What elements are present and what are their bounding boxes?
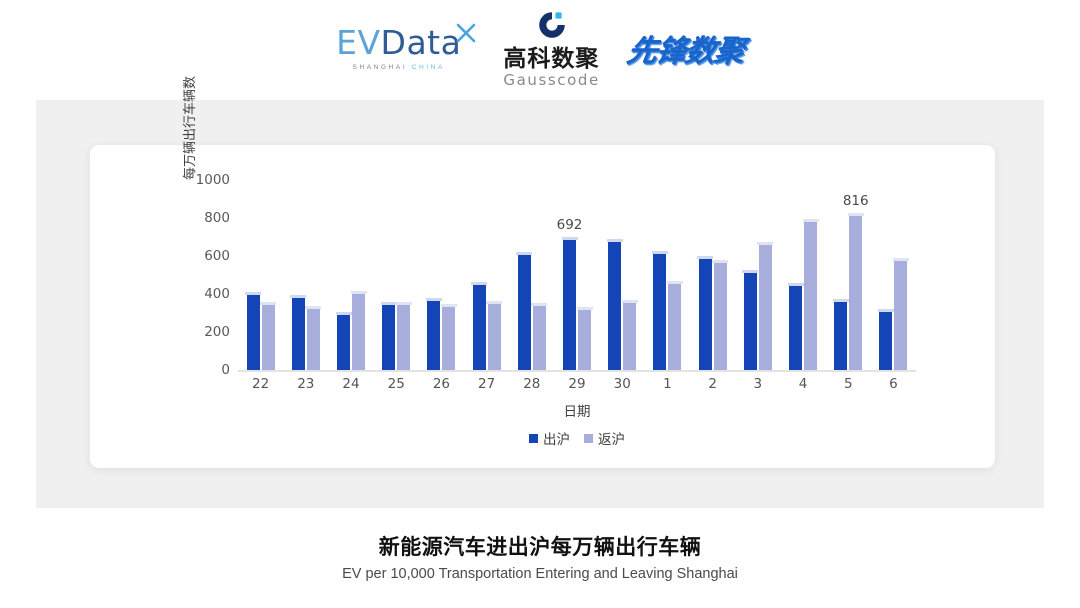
bar-chuhu[interactable] xyxy=(789,285,802,370)
x-axis-line xyxy=(238,370,916,372)
bar-group xyxy=(690,180,735,370)
bar-group: 816 xyxy=(826,180,871,370)
x-tick-label: 23 xyxy=(283,376,328,398)
bar-chuhu[interactable] xyxy=(879,311,892,370)
x-tick-label: 2 xyxy=(690,376,735,398)
x-tick-label: 24 xyxy=(328,376,373,398)
bar-chuhu[interactable] xyxy=(427,300,440,370)
x-tick-label: 30 xyxy=(600,376,645,398)
evdata-tagline-shanghai: SHANGHAI xyxy=(353,64,408,71)
bar-cap xyxy=(622,300,638,303)
bar-cap xyxy=(441,304,457,307)
logo-evdata: EVData SHANGHAI CHINA xyxy=(336,26,475,71)
y-tick-label: 600 xyxy=(204,248,230,264)
bar-group xyxy=(419,180,464,370)
legend-swatch xyxy=(529,434,538,443)
bar-cap xyxy=(848,213,864,216)
bar-chuhu[interactable] xyxy=(608,241,621,370)
bar-group xyxy=(645,180,690,370)
y-tick-label: 1000 xyxy=(196,172,230,188)
x-tick-label: 4 xyxy=(780,376,825,398)
legend-item[interactable]: 出沪 xyxy=(529,428,570,448)
bar-chuhu[interactable] xyxy=(518,254,531,370)
bar-chuhu[interactable] xyxy=(653,253,666,370)
bar-group: 692 xyxy=(554,180,599,370)
bar-cap xyxy=(577,307,593,310)
bar-cap xyxy=(803,219,819,222)
bar-group xyxy=(464,180,509,370)
y-tick-label: 0 xyxy=(221,362,230,378)
bar-cap xyxy=(562,237,578,240)
x-cross-icon xyxy=(455,22,477,44)
bar-cap xyxy=(486,301,502,304)
bar-group xyxy=(735,180,780,370)
bar-cap xyxy=(471,282,487,285)
bar-cap xyxy=(305,306,321,309)
bar-chuhu[interactable] xyxy=(834,301,847,370)
bar-chuhu[interactable] xyxy=(473,284,486,370)
caption-english: EV per 10,000 Transportation Entering an… xyxy=(0,566,1080,582)
legend-label: 返沪 xyxy=(598,428,625,448)
evdata-wordmark: EVData xyxy=(336,26,461,59)
bar-chuhu[interactable] xyxy=(292,297,305,370)
chart-legend: 出沪返沪 xyxy=(238,428,916,448)
x-axis-ticks: 222324252627282930123456 xyxy=(238,376,916,398)
bar-group xyxy=(780,180,825,370)
bar-cap xyxy=(893,258,909,261)
bar-value-label: 692 xyxy=(557,217,583,233)
legend-swatch xyxy=(584,434,593,443)
bar-group xyxy=(283,180,328,370)
x-tick-label: 1 xyxy=(645,376,690,398)
bar-cap xyxy=(607,239,623,242)
x-tick-label: 27 xyxy=(464,376,509,398)
bar-fanhu[interactable] xyxy=(759,244,772,370)
bar-chart: 每万辆出行车辆数 10008006004002000 692816 222324… xyxy=(90,145,995,468)
y-tick-label: 400 xyxy=(204,286,230,302)
x-tick-label: 25 xyxy=(374,376,419,398)
bar-group xyxy=(374,180,419,370)
bar-chuhu[interactable] xyxy=(337,314,350,370)
bar-cap xyxy=(260,302,276,305)
bar-groups: 692816 xyxy=(238,180,916,370)
bar-cap xyxy=(833,299,849,302)
bar-cap xyxy=(245,292,261,295)
x-tick-label: 29 xyxy=(554,376,599,398)
bar-cap xyxy=(757,242,773,245)
gausscode-en-name: Gausscode xyxy=(503,73,600,88)
bar-chuhu[interactable] xyxy=(247,294,260,370)
bar-chuhu[interactable]: 692 xyxy=(563,239,576,370)
bar-chuhu[interactable] xyxy=(744,272,757,370)
bar-cap xyxy=(878,309,894,312)
caption-chinese: 新能源汽车进出沪每万辆出行车辆 xyxy=(0,531,1080,561)
gausscode-circle-icon xyxy=(536,9,568,41)
bar-cap xyxy=(290,295,306,298)
bar-cap xyxy=(667,281,683,284)
bar-fanhu[interactable] xyxy=(804,221,817,370)
bar-cap xyxy=(652,251,668,254)
bar-cap xyxy=(697,256,713,259)
bar-fanhu[interactable] xyxy=(442,306,455,370)
bar-fanhu[interactable] xyxy=(488,303,501,370)
bar-cap xyxy=(426,298,442,301)
bar-group xyxy=(600,180,645,370)
bar-value-label: 816 xyxy=(843,193,869,209)
bar-cap xyxy=(531,303,547,306)
bar-fanhu[interactable] xyxy=(352,293,365,370)
bar-fanhu[interactable] xyxy=(578,309,591,370)
x-tick-label: 5 xyxy=(826,376,871,398)
bar-cap xyxy=(396,302,412,305)
bar-fanhu[interactable] xyxy=(894,260,907,370)
bar-chuhu[interactable] xyxy=(382,304,395,371)
bar-cap xyxy=(788,283,804,286)
y-tick-label: 200 xyxy=(204,324,230,340)
bar-cap xyxy=(351,291,367,294)
bar-fanhu[interactable] xyxy=(668,283,681,370)
bar-fanhu[interactable] xyxy=(262,304,275,370)
logo-gausscode: 高科数聚 Gausscode xyxy=(503,9,600,88)
y-axis-ticks: 10008006004002000 xyxy=(178,145,230,468)
x-tick-label: 28 xyxy=(509,376,554,398)
evdata-tagline: SHANGHAI CHINA xyxy=(336,64,461,71)
bar-cap xyxy=(516,252,532,255)
bar-fanhu[interactable] xyxy=(623,302,636,370)
logo-bar: EVData SHANGHAI CHINA 高科数聚 Gausscode xyxy=(0,0,1080,96)
x-tick-label: 22 xyxy=(238,376,283,398)
bar-group xyxy=(871,180,916,370)
bar-cap xyxy=(336,312,352,315)
bar-fanhu[interactable]: 816 xyxy=(849,215,862,370)
gausscode-cn-name: 高科数聚 xyxy=(503,48,600,71)
bar-fanhu[interactable] xyxy=(533,305,546,370)
evdata-ev-text: EV xyxy=(336,23,380,62)
y-tick-label: 800 xyxy=(204,210,230,226)
slide-root: EVData SHANGHAI CHINA 高科数聚 Gausscode xyxy=(0,0,1080,608)
logo-xianfeng: 先锋数聚 xyxy=(624,26,748,70)
bar-group xyxy=(328,180,373,370)
evdata-data-text: Data xyxy=(381,23,462,62)
x-tick-label: 26 xyxy=(419,376,464,398)
bar-chuhu[interactable] xyxy=(699,258,712,370)
bar-group xyxy=(509,180,554,370)
evdata-tagline-china: CHINA xyxy=(412,64,445,71)
bar-fanhu[interactable] xyxy=(397,304,410,370)
x-axis-title: 日期 xyxy=(238,400,916,420)
bar-group xyxy=(238,180,283,370)
x-tick-label: 3 xyxy=(735,376,780,398)
bar-fanhu[interactable] xyxy=(307,308,320,370)
chart-card: 每万辆出行车辆数 10008006004002000 692816 222324… xyxy=(90,145,995,468)
bar-cap xyxy=(712,260,728,263)
x-tick-label: 6 xyxy=(871,376,916,398)
bar-fanhu[interactable] xyxy=(714,262,727,370)
bar-cap xyxy=(381,302,397,305)
legend-item[interactable]: 返沪 xyxy=(584,428,625,448)
gausscode-text: 高科数聚 Gausscode xyxy=(503,48,600,88)
legend-label: 出沪 xyxy=(543,428,570,448)
bar-cap xyxy=(742,270,758,273)
